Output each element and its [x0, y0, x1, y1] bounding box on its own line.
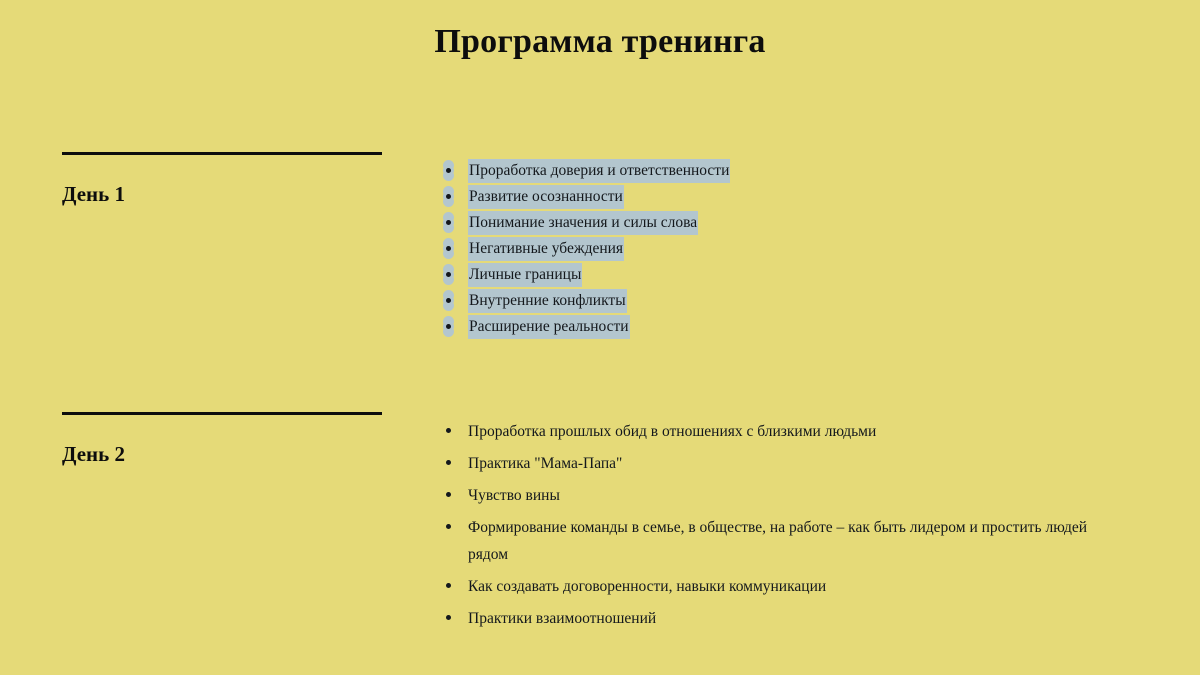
bullet-icon — [446, 298, 451, 303]
topic-list-day-1: Проработка доверия и ответственности Раз… — [440, 152, 730, 340]
day-divider-rule — [62, 412, 382, 415]
topic-label: Расширение реальности — [468, 315, 630, 339]
list-item: Формирование команды в семье, в обществе… — [440, 514, 1088, 568]
topic-label: Личные границы — [468, 263, 582, 287]
day-heading: День 2 — [62, 443, 440, 466]
topic-label: Внутренние конфликты — [468, 289, 627, 313]
topic-label: Как создавать договоренности, навыки ком… — [468, 578, 826, 595]
topic-label: Формирование команды в семье, в обществе… — [468, 519, 1087, 563]
bullet-icon — [446, 583, 451, 588]
bullet-icon — [446, 524, 451, 529]
topic-list-day-2: Проработка прошлых обид в отношениях с б… — [440, 412, 1088, 637]
day-label-column-1: День 1 — [0, 152, 440, 206]
topic-label: Проработка прошлых обид в отношениях с б… — [468, 423, 876, 440]
slide: Программа тренинга День 1 Проработка дов… — [0, 0, 1200, 675]
page-title: Программа тренинга — [0, 22, 1200, 63]
day-divider-rule — [62, 152, 382, 155]
list-item: Проработка доверия и ответственности — [440, 158, 730, 184]
list-item: Развитие осознанности — [440, 184, 730, 210]
list-item: Практики взаимоотношений — [440, 605, 1088, 632]
list-item: Личные границы — [440, 262, 730, 288]
list-item: Чувство вины — [440, 482, 1088, 509]
topic-label: Практика "Мама-Папа" — [468, 455, 622, 472]
list-item: Негативные убеждения — [440, 236, 730, 262]
bullet-icon — [446, 220, 451, 225]
topic-label: Развитие осознанности — [468, 185, 624, 209]
list-item: Проработка прошлых обид в отношениях с б… — [440, 418, 1088, 445]
bullet-icon — [446, 492, 451, 497]
day-section-2: День 2 Проработка прошлых обид в отношен… — [0, 412, 1088, 637]
bullet-icon — [446, 272, 451, 277]
bullet-icon — [446, 460, 451, 465]
list-item: Практика "Мама-Папа" — [440, 450, 1088, 477]
topic-label: Негативные убеждения — [468, 237, 624, 261]
topic-label: Проработка доверия и ответственности — [468, 159, 730, 183]
day-label-column-2: День 2 — [0, 412, 440, 466]
bullet-icon — [446, 428, 451, 433]
list-item: Внутренние конфликты — [440, 288, 730, 314]
topic-label: Чувство вины — [468, 487, 560, 504]
list-item: Расширение реальности — [440, 314, 730, 340]
day-heading: День 1 — [62, 183, 440, 206]
list-item: Как создавать договоренности, навыки ком… — [440, 573, 1088, 600]
bullet-icon — [446, 194, 451, 199]
bullet-icon — [446, 168, 451, 173]
bullet-icon — [446, 246, 451, 251]
topic-label: Практики взаимоотношений — [468, 610, 656, 627]
bullet-icon — [446, 324, 451, 329]
list-item: Понимание значения и силы слова — [440, 210, 730, 236]
topic-label: Понимание значения и силы слова — [468, 211, 698, 235]
day-section-1: День 1 Проработка доверия и ответственно… — [0, 152, 730, 340]
bullet-icon — [446, 615, 451, 620]
